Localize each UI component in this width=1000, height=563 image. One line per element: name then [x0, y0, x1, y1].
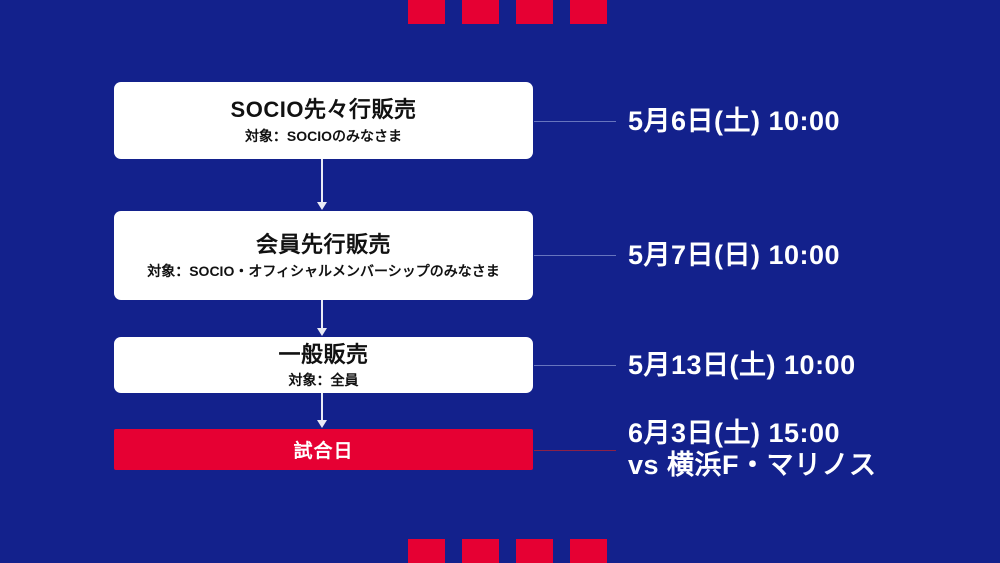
- down-arrow-icon-3: [321, 393, 323, 421]
- step-title: 一般販売: [278, 341, 368, 369]
- step-box-member-advance: 会員先行販売 対象：SOCIO・オフィシャルメンバーシップのみなさま: [114, 211, 533, 300]
- step-subtitle: 対象：SOCIOのみなさま: [245, 128, 402, 145]
- ticket-sales-timeline: SOCIO先々行販売 対象：SOCIOのみなさま 会員先行販売 対象：SOCIO…: [0, 0, 1000, 563]
- match-day-banner: 試合日: [114, 429, 533, 470]
- match-date-text: 6月3日(土) 15:00: [628, 418, 877, 450]
- down-arrow-icon-2: [321, 300, 323, 329]
- step-box-general-sale: 一般販売 対象：全員: [114, 337, 533, 393]
- down-arrow-icon-1: [321, 159, 323, 203]
- step-subtitle: 対象：全員: [289, 372, 359, 389]
- date-label-socio-advance: 5月6日(土) 10:00: [628, 106, 840, 138]
- step-subtitle: 対象：SOCIO・オフィシャルメンバーシップのみなさま: [147, 263, 500, 280]
- match-day-label: 試合日: [293, 436, 353, 463]
- step-title: SOCIO先々行販売: [231, 96, 417, 124]
- connector-line-4: [534, 450, 616, 451]
- connector-line-1: [534, 121, 616, 122]
- step-box-socio-advance: SOCIO先々行販売 対象：SOCIOのみなさま: [114, 82, 533, 159]
- date-label-match-day: 6月3日(土) 15:00 vs 横浜F・マリノス: [628, 418, 877, 482]
- date-label-member-advance: 5月7日(日) 10:00: [628, 240, 840, 272]
- step-title: 会員先行販売: [256, 231, 391, 259]
- match-opponent-text: vs 横浜F・マリノス: [628, 450, 877, 482]
- date-label-general-sale: 5月13日(土) 10:00: [628, 350, 856, 382]
- connector-line-2: [534, 255, 616, 256]
- connector-line-3: [534, 365, 616, 366]
